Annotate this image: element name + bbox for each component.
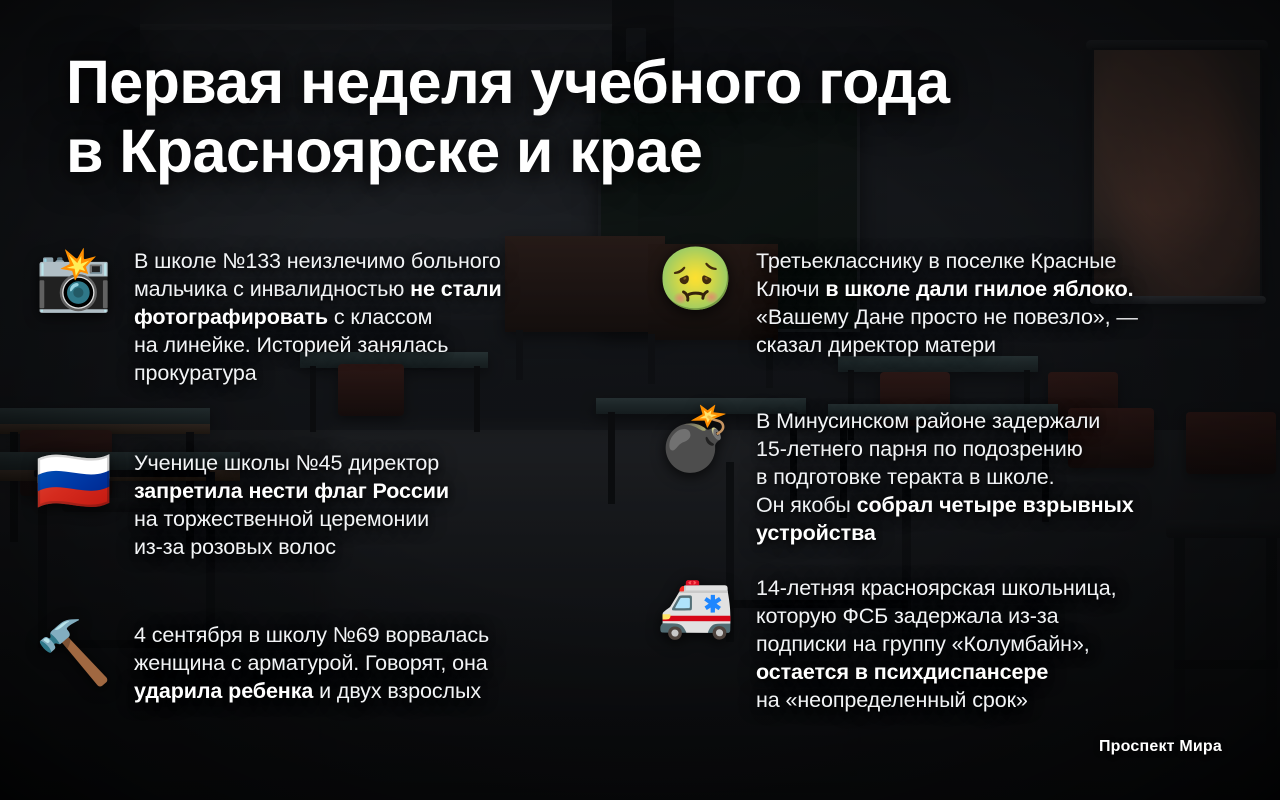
news-item: 🚑 14-летняя красноярская школьница, кото… xyxy=(650,575,1117,715)
news-item-text: Ученице школы №45 директор запретила нес… xyxy=(134,450,449,562)
news-item: 🇷🇺 Ученице школы №45 директор запретила … xyxy=(28,450,449,562)
card-content: Первая неделя учебного года в Красноярск… xyxy=(0,0,1280,800)
news-item: 🤢 Третьекласснику в поселке Красные Ключ… xyxy=(650,248,1138,360)
news-item: 🔨 4 сентября в школу №69 ворвалась женщи… xyxy=(28,622,489,706)
news-item-text: 4 сентября в школу №69 ворвалась женщина… xyxy=(134,622,489,706)
news-item-text: В школе №133 неизлечимо больного мальчик… xyxy=(134,248,502,388)
hammer-icon: 🔨 xyxy=(28,622,120,684)
source-credit: Проспект Мира xyxy=(1099,738,1222,756)
news-item: 📸 В школе №133 неизлечимо больного мальч… xyxy=(28,248,502,388)
bomb-icon: 💣 xyxy=(650,408,742,470)
russia-flag-icon: 🇷🇺 xyxy=(28,450,120,512)
camera-with-flash-icon: 📸 xyxy=(28,248,120,310)
news-item-text: В Минусинском районе задержали 15-летнег… xyxy=(756,408,1134,548)
news-item-text: 14-летняя красноярская школьница, котору… xyxy=(756,575,1117,715)
ambulance-icon: 🚑 xyxy=(650,575,742,637)
news-item-text: Третьекласснику в поселке Красные Ключи … xyxy=(756,248,1138,360)
news-item: 💣 В Минусинском районе задержали 15-летн… xyxy=(650,408,1134,548)
page-title: Первая неделя учебного года в Красноярск… xyxy=(66,48,1166,186)
nauseated-face-icon: 🤢 xyxy=(650,248,742,310)
infographic-card: Первая неделя учебного года в Красноярск… xyxy=(0,0,1280,800)
